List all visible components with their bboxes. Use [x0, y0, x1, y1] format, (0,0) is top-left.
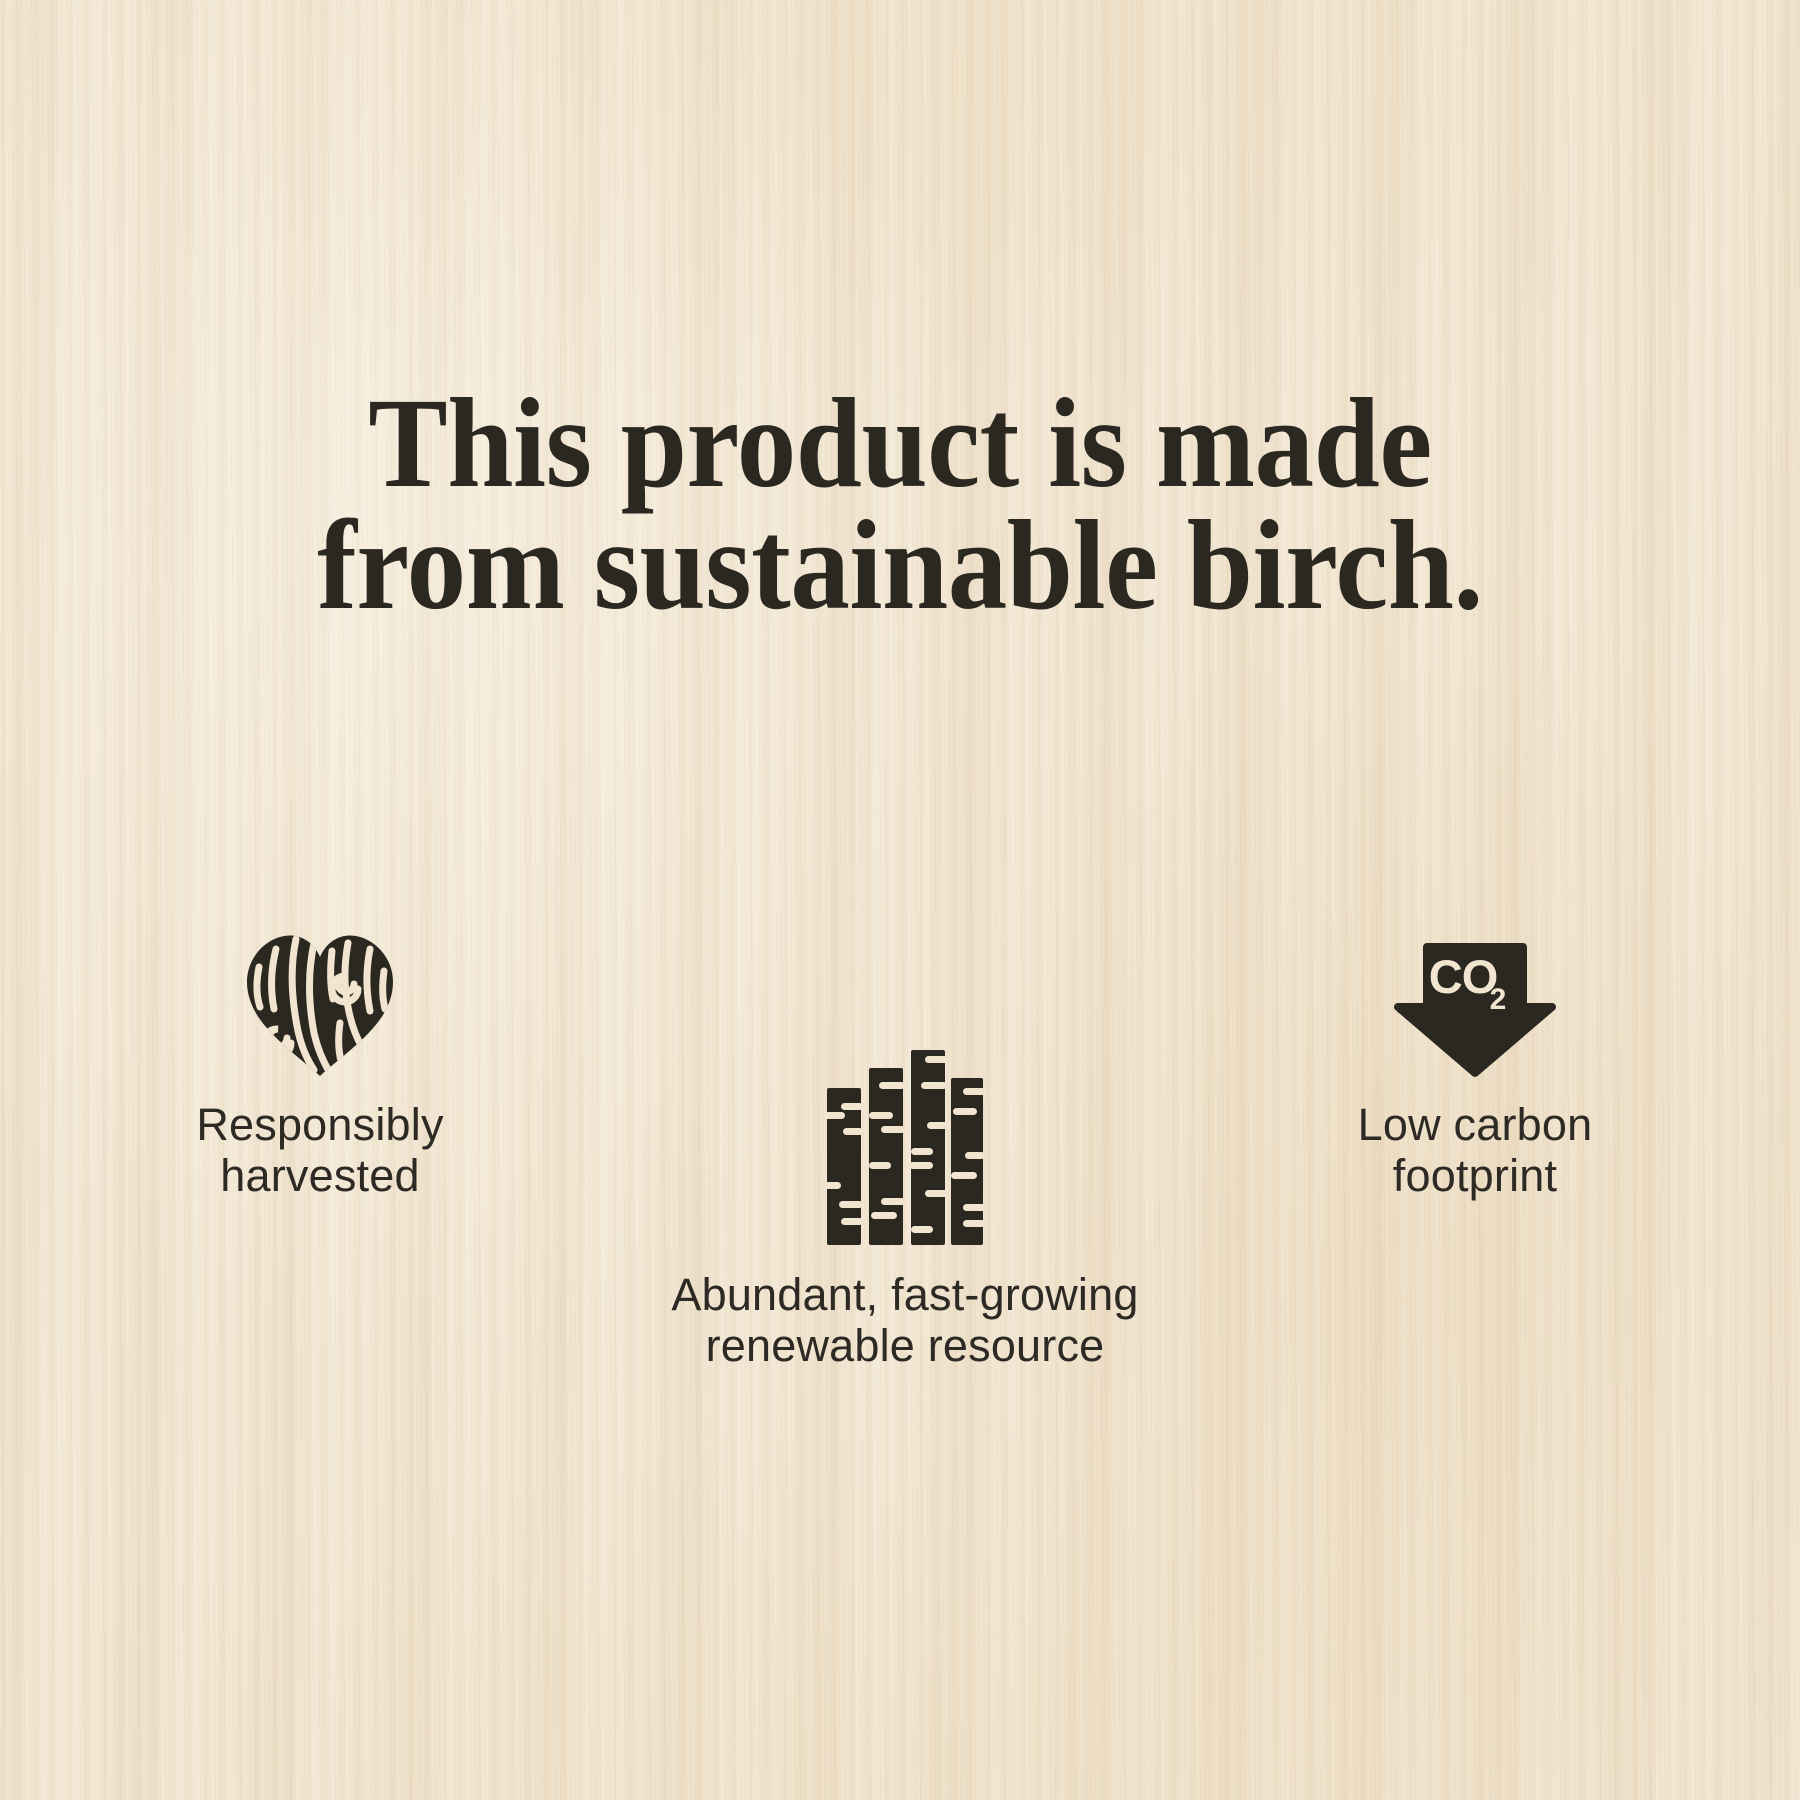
icon-container: CO 2	[1240, 915, 1710, 1077]
birch-trunks-icon	[825, 1050, 985, 1245]
page-title: This product is made from sustainable bi…	[63, 382, 1737, 626]
feature-low-carbon-footprint: CO 2 Low carbon footprint	[1240, 915, 1710, 1201]
icon-container	[90, 915, 550, 1077]
feature-responsibly-harvested: Responsibly harvested	[90, 915, 550, 1201]
feature-caption: Abundant, fast-growing renewable resourc…	[600, 1269, 1210, 1371]
wood-grain-heart-icon	[244, 927, 396, 1077]
co2-subscript: 2	[1490, 983, 1507, 1016]
feature-caption: Low carbon footprint	[1240, 1099, 1710, 1201]
feature-caption: Responsibly harvested	[90, 1099, 550, 1201]
co2-down-arrow-icon: CO 2	[1393, 943, 1557, 1077]
wood-panel-background: This product is made from sustainable bi…	[0, 0, 1800, 1800]
feature-abundant-renewable: Abundant, fast-growing renewable resourc…	[600, 1045, 1210, 1371]
co2-label: CO	[1429, 950, 1498, 1003]
icon-container	[600, 1045, 1210, 1245]
